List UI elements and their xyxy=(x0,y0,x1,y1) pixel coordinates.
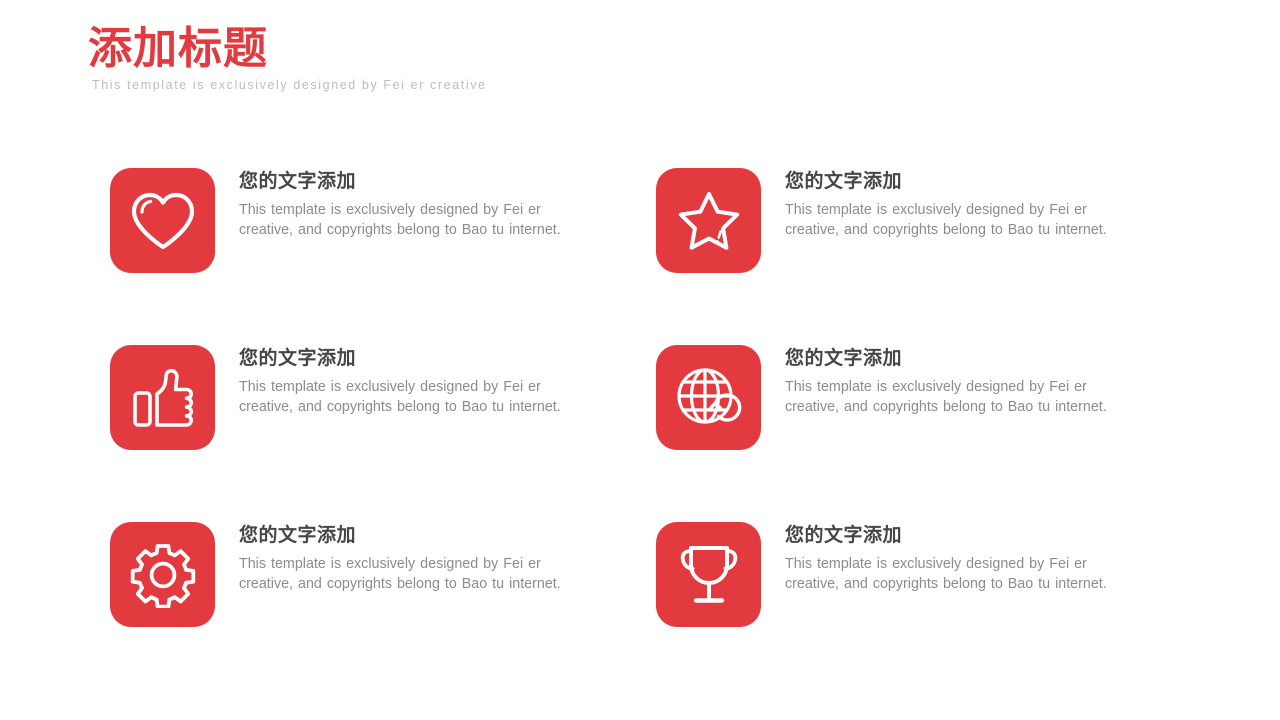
heart-icon xyxy=(130,191,196,251)
feature-title: 您的文字添加 xyxy=(239,525,579,548)
icon-tile[interactable] xyxy=(110,345,215,450)
page-title: 添加标题 xyxy=(88,26,788,72)
feature-text-block: 您的文字添加 This template is exclusively desi… xyxy=(239,322,579,417)
star-icon xyxy=(677,190,741,252)
feature-item-heart[interactable]: 您的文字添加 This template is exclusively desi… xyxy=(110,145,656,322)
feature-text-block: 您的文字添加 This template is exclusively desi… xyxy=(239,145,579,240)
feature-grid: 您的文字添加 This template is exclusively desi… xyxy=(0,145,1280,676)
feature-description: This template is exclusively designed by… xyxy=(239,377,579,418)
icon-tile[interactable] xyxy=(656,168,761,273)
feature-text-block: 您的文字添加 This template is exclusively desi… xyxy=(785,145,1125,240)
feature-item-gear[interactable]: 您的文字添加 This template is exclusively desi… xyxy=(110,499,656,676)
page-header: 添加标题 This template is exclusively design… xyxy=(88,26,788,92)
feature-description: This template is exclusively designed by… xyxy=(239,200,579,241)
feature-text-block: 您的文字添加 This template is exclusively desi… xyxy=(785,322,1125,417)
icon-tile[interactable] xyxy=(656,522,761,627)
feature-item-star[interactable]: 您的文字添加 This template is exclusively desi… xyxy=(656,145,1202,322)
feature-item-thumbs-up[interactable]: 您的文字添加 This template is exclusively desi… xyxy=(110,322,656,499)
feature-title: 您的文字添加 xyxy=(785,525,1125,548)
feature-item-globe[interactable]: 您的文字添加 This template is exclusively desi… xyxy=(656,322,1202,499)
feature-title: 您的文字添加 xyxy=(239,171,579,194)
feature-description: This template is exclusively designed by… xyxy=(785,200,1125,241)
feature-title: 您的文字添加 xyxy=(785,348,1125,371)
feature-description: This template is exclusively designed by… xyxy=(785,377,1125,418)
globe-refresh-icon xyxy=(676,366,742,430)
icon-tile[interactable] xyxy=(110,168,215,273)
page-subtitle: This template is exclusively designed by… xyxy=(92,78,788,92)
feature-item-trophy[interactable]: 您的文字添加 This template is exclusively desi… xyxy=(656,499,1202,676)
icon-tile[interactable] xyxy=(656,345,761,450)
feature-description: This template is exclusively designed by… xyxy=(239,554,579,595)
feature-description: This template is exclusively designed by… xyxy=(785,554,1125,595)
thumbs-up-icon xyxy=(131,367,195,429)
feature-title: 您的文字添加 xyxy=(239,348,579,371)
gear-icon xyxy=(130,542,196,608)
icon-tile[interactable] xyxy=(110,522,215,627)
feature-text-block: 您的文字添加 This template is exclusively desi… xyxy=(785,499,1125,594)
feature-title: 您的文字添加 xyxy=(785,171,1125,194)
trophy-icon xyxy=(678,543,740,607)
feature-text-block: 您的文字添加 This template is exclusively desi… xyxy=(239,499,579,594)
